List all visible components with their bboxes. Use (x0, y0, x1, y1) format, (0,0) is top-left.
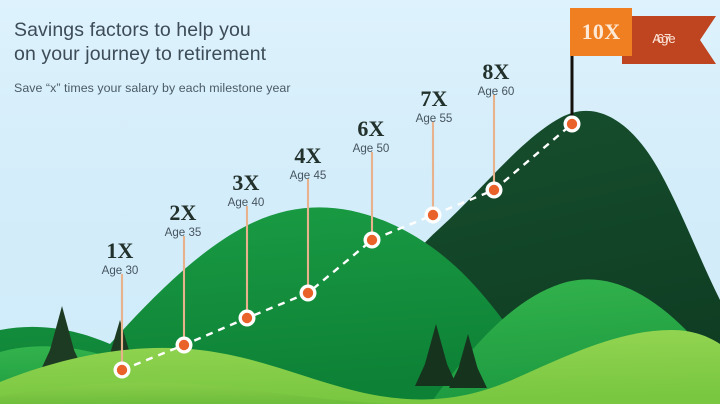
milestone-label-3x: 3X Age 40 (228, 172, 265, 210)
milestone-label-7x: 7X Age 55 (416, 88, 453, 126)
page-title: Savings factors to help you on your jour… (14, 18, 266, 66)
milestone-age: Age 50 (353, 141, 390, 156)
infographic-canvas: Savings factors to help you on your jour… (0, 0, 720, 404)
milestone-multiple: 8X (478, 61, 515, 83)
dashed-journey-path (122, 124, 572, 370)
milestone-multiple: 4X (290, 145, 327, 167)
flag-age-text: Age 67 (626, 23, 694, 40)
flag-age-ribbon: Age 67 (622, 16, 716, 64)
milestone-label-8x: 8X Age 60 (478, 61, 515, 99)
milestone-age: Age 40 (228, 195, 265, 210)
milestone-age: Age 45 (290, 168, 327, 183)
milestone-age: Age 35 (165, 225, 202, 240)
milestone-multiple: 3X (228, 172, 265, 194)
milestone-age: Age 60 (478, 84, 515, 99)
milestone-multiple: 1X (102, 240, 139, 262)
summit-flag: Age 67 10X (570, 8, 716, 62)
milestone-label-1x: 1X Age 30 (102, 240, 139, 278)
flag-multiple: 10X (570, 8, 632, 56)
milestone-age: Age 55 (416, 111, 453, 126)
milestone-label-4x: 4X Age 45 (290, 145, 327, 183)
milestone-label-2x: 2X Age 35 (165, 202, 202, 240)
milestone-label-6x: 6X Age 50 (353, 118, 390, 156)
milestone-multiple: 2X (165, 202, 202, 224)
page-subtitle: Save “x” times your salary by each miles… (14, 81, 291, 95)
milestone-multiple: 6X (353, 118, 390, 140)
flag-age-number: 67 (630, 30, 698, 47)
milestone-age: Age 30 (102, 263, 139, 278)
milestone-multiple: 7X (416, 88, 453, 110)
